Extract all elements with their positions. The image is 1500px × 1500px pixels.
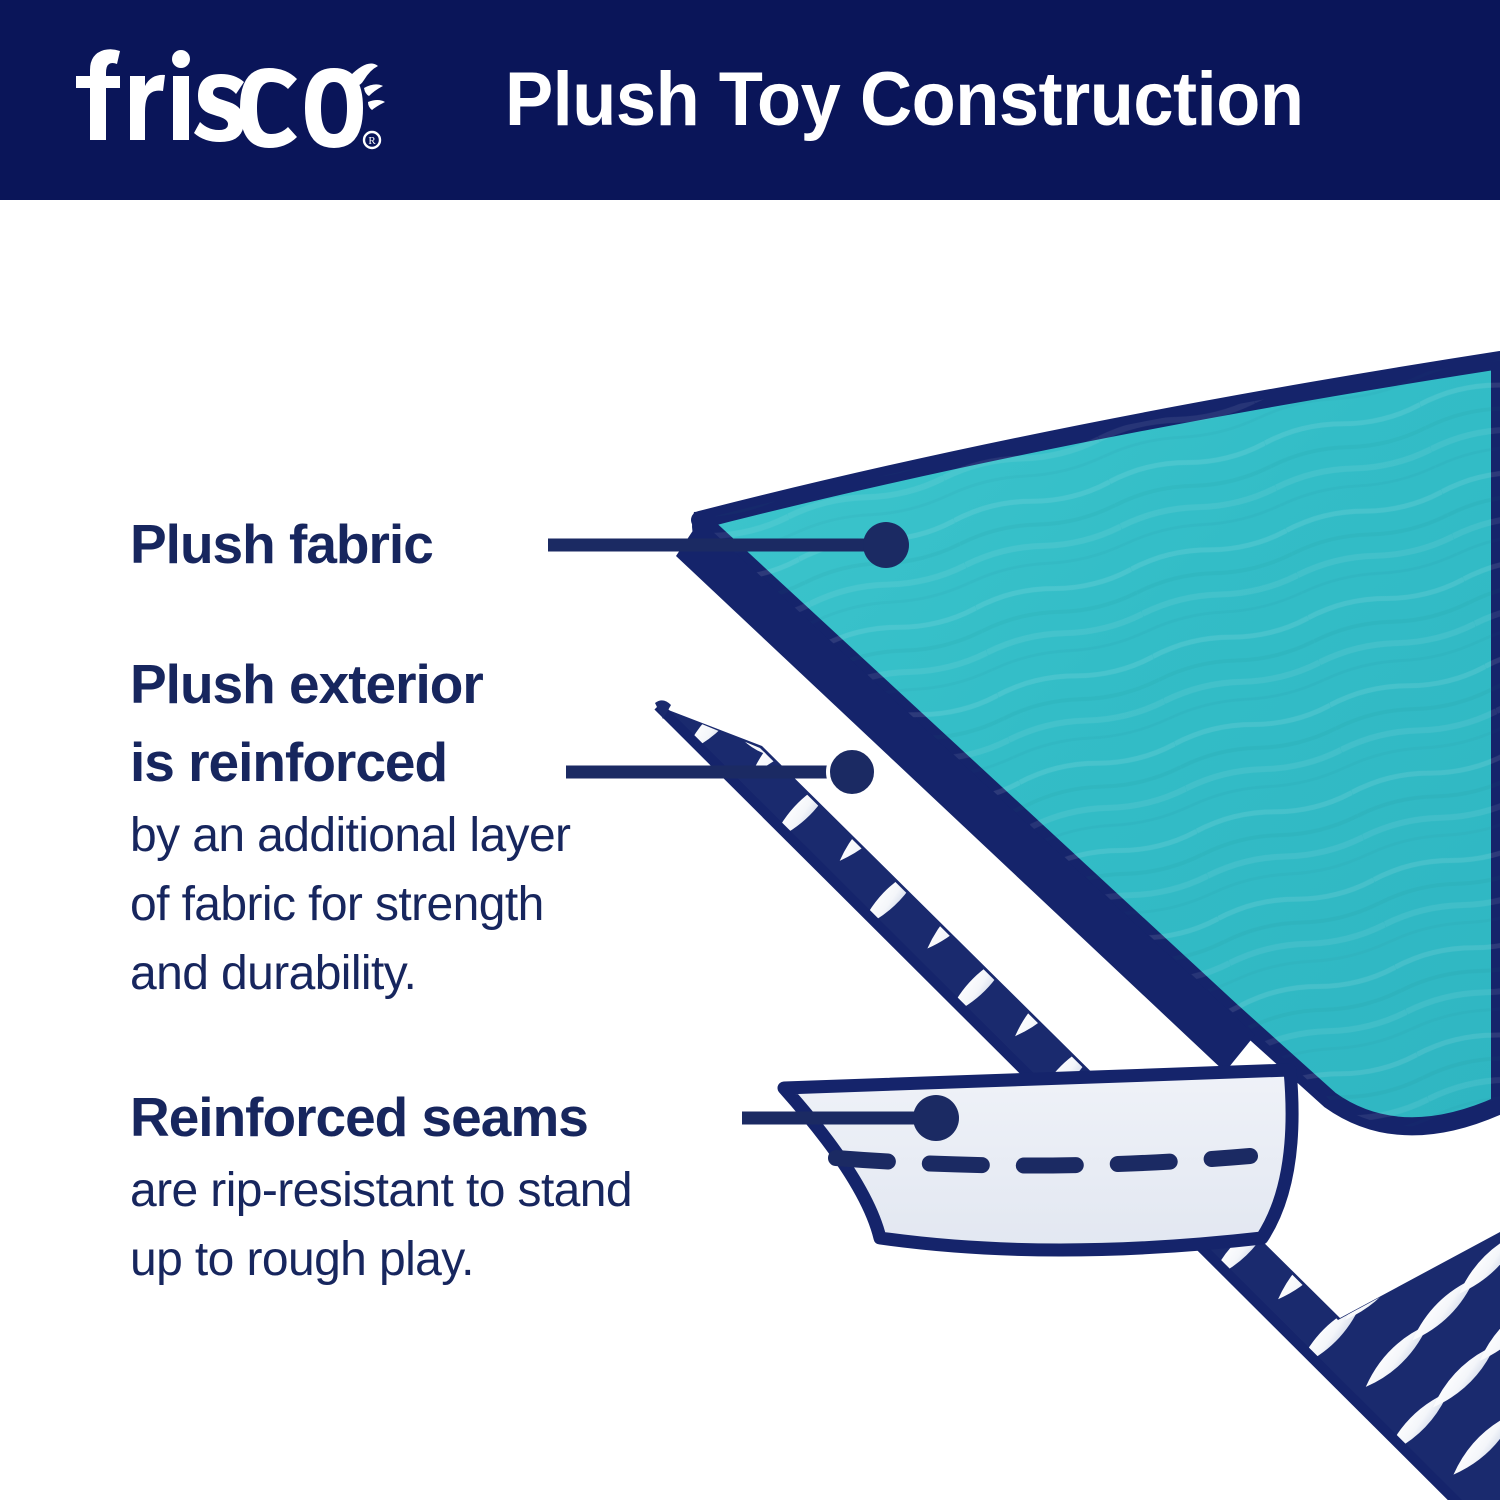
- mesh-opening: [1119, 332, 1193, 406]
- mesh-opening: [1423, 729, 1497, 803]
- mesh-opening: [793, 658, 867, 732]
- mesh-opening: [948, 766, 1022, 840]
- mesh-opening: [1088, 626, 1162, 700]
- mesh-opening: [1181, 533, 1255, 607]
- leader-dot-plush-exterior: [828, 748, 876, 796]
- header-bar: R Plush Toy Construction: [0, 0, 1500, 200]
- mesh-opening: [901, 813, 975, 887]
- mesh-opening: [1149, 828, 1223, 902]
- mesh-opening: [942, 947, 1016, 1021]
- mesh-opening: [1345, 1070, 1419, 1144]
- mesh-opening: [1000, 539, 1074, 613]
- mesh-opening: [1129, 761, 1203, 835]
- mesh-opening: [767, 772, 841, 846]
- mesh-opening: [1392, 1024, 1466, 1098]
- plush-fabric-fold-edge: [676, 512, 1255, 1072]
- mesh-opening: [989, 901, 1063, 975]
- mesh-opening: [959, 404, 1033, 478]
- mesh-opening: [912, 451, 986, 525]
- mesh-opening: [1485, 930, 1500, 1004]
- svg-text:R: R: [368, 135, 376, 147]
- mesh-opening: [1006, 358, 1080, 432]
- mesh-opening: [1160, 466, 1234, 540]
- mesh-opening: [1216, 848, 1290, 922]
- infographic-page: R Plush Toy Construction: [0, 0, 1500, 1500]
- mesh-opening: [1447, 1406, 1500, 1480]
- mesh-opening: [813, 725, 887, 799]
- mesh-opening: [1324, 1003, 1398, 1077]
- mesh-opening: [1433, 1158, 1500, 1232]
- mesh-opening: [1468, 1474, 1500, 1500]
- mesh-opening: [1242, 735, 1316, 809]
- mesh-opening: [772, 591, 846, 665]
- mesh-opening: [1365, 1138, 1439, 1212]
- mesh-opening: [860, 679, 934, 753]
- mesh-opening: [1093, 445, 1167, 519]
- mesh-opening: [1047, 492, 1121, 566]
- mesh-opening: [1310, 755, 1384, 829]
- mesh-opening: [979, 472, 1053, 546]
- mesh-opening: [1304, 936, 1378, 1010]
- mesh-opening: [1377, 776, 1451, 850]
- mesh-opening: [1403, 662, 1477, 736]
- label-reinforced-seams: Reinforced seams are rip-resistant to st…: [130, 1078, 632, 1294]
- mesh-opening: [1269, 621, 1343, 695]
- mesh-opening: [1082, 807, 1156, 881]
- mesh-opening: [1470, 682, 1500, 756]
- mesh-opening: [1464, 863, 1500, 937]
- mesh-opening: [1184, 1143, 1258, 1217]
- mesh-opening: [1494, 1360, 1500, 1434]
- mesh-opening: [1196, 781, 1270, 855]
- mesh-opening: [907, 632, 981, 706]
- mesh-opening: [1382, 595, 1456, 669]
- mesh-opening: [1140, 399, 1214, 473]
- mesh-opening: [1418, 910, 1492, 984]
- mesh-opening: [1190, 962, 1264, 1036]
- mesh-opening: [726, 638, 800, 712]
- mesh-opening: [1052, 311, 1126, 385]
- mesh-opening: [1427, 1339, 1500, 1413]
- mesh-opening: [1336, 641, 1410, 715]
- mesh-opening: [1293, 1298, 1367, 1372]
- label-reinforced-seams-heading: Reinforced seams: [130, 1078, 632, 1156]
- label-plush-exterior-body: by an additional layer of fabric for str…: [130, 801, 570, 1008]
- mesh-opening: [1035, 854, 1109, 928]
- label-plush-fabric: Plush fabric: [130, 505, 433, 583]
- mesh-opening: [1252, 1164, 1326, 1238]
- mesh-opening: [1356, 708, 1430, 782]
- mesh-opening: [1207, 419, 1281, 493]
- leader-dot-reinforced-seams: [913, 1095, 959, 1141]
- mesh-opening: [1380, 1386, 1454, 1460]
- mesh-opening: [1444, 796, 1500, 870]
- mesh-opening: [1108, 694, 1182, 768]
- mesh-opening: [974, 653, 1048, 727]
- mesh-opening: [1073, 378, 1147, 452]
- mesh-opening: [1114, 513, 1188, 587]
- mesh-opening: [1026, 425, 1100, 499]
- mesh-opening: [746, 705, 820, 779]
- mesh-opening: [679, 684, 753, 758]
- mesh-opening: [1283, 869, 1357, 943]
- mesh-opening: [1272, 1231, 1346, 1305]
- seam-flap-layer: [784, 1070, 1292, 1250]
- leader-lines: [548, 522, 959, 1141]
- mesh-opening: [933, 518, 1007, 592]
- mesh-opening: [1491, 749, 1500, 823]
- mesh-opening: [1102, 875, 1176, 949]
- label-plush-fabric-heading: Plush fabric: [130, 505, 433, 583]
- plush-fabric-layer: [700, 360, 1500, 1126]
- mesh-opening: [1009, 968, 1083, 1042]
- mesh-opening: [1061, 740, 1135, 814]
- label-plush-exterior-heading: Plush exterior is reinforced: [130, 645, 570, 801]
- mesh-opening: [1030, 1035, 1104, 1109]
- mesh-opening: [1201, 600, 1275, 674]
- mesh-opening: [1123, 942, 1197, 1016]
- page-title: Plush Toy Construction: [505, 50, 1303, 150]
- mesh-opening: [1319, 1184, 1393, 1258]
- mesh-opening: [1330, 822, 1404, 896]
- leader-dot-plush-fabric: [863, 522, 909, 568]
- mesh-opening: [1263, 802, 1337, 876]
- mesh-opening: [1315, 574, 1389, 648]
- mesh-opening: [1175, 714, 1249, 788]
- mesh-opening: [1298, 1117, 1372, 1191]
- mesh-opening: [1351, 889, 1425, 963]
- stitch-dashed-line: [836, 1156, 1250, 1166]
- mesh-opening: [1438, 977, 1500, 1051]
- mesh-opening: [1097, 1056, 1171, 1130]
- frisco-logo: R: [72, 44, 392, 152]
- mesh-opening: [1295, 507, 1369, 581]
- mesh-opening: [1278, 1050, 1352, 1124]
- mesh-opening: [1076, 988, 1150, 1062]
- mesh-opening: [968, 834, 1042, 908]
- mesh-opening: [1479, 1111, 1500, 1185]
- mesh-opening: [1237, 916, 1311, 990]
- mesh-opening: [866, 498, 940, 572]
- mesh-openings: [742, 738, 798, 757]
- mesh-opening: [921, 880, 995, 954]
- registered-trademark-icon: R: [364, 132, 380, 148]
- mesh-opening: [819, 544, 893, 618]
- mesh-opening: [1143, 1009, 1217, 1083]
- mesh-opening: [1211, 1029, 1285, 1103]
- mesh-opening: [834, 793, 908, 867]
- mesh-opening: [953, 585, 1027, 659]
- mesh-opening: [1056, 921, 1130, 995]
- mesh-opening: [1474, 1293, 1500, 1367]
- mesh-opening: [994, 720, 1068, 794]
- mesh-opening: [1339, 1252, 1413, 1326]
- label-reinforced-seams-body: are rip-resistant to stand up to rough p…: [130, 1156, 632, 1294]
- mesh-opening: [1205, 1210, 1279, 1284]
- mesh-opening: [839, 612, 913, 686]
- mesh-opening: [1134, 580, 1208, 654]
- mesh-opening: [1155, 647, 1229, 721]
- reinforcement-mesh-layer: [655, 311, 1500, 1500]
- mesh-opening: [1386, 1205, 1460, 1279]
- mesh-opening: [1231, 1097, 1305, 1171]
- mesh-opening: [1248, 554, 1322, 628]
- mesh-opening: [1371, 957, 1445, 1031]
- label-plush-exterior: Plush exterior is reinforced by an addit…: [130, 645, 570, 1008]
- mesh-opening: [1222, 667, 1296, 741]
- mesh-opening: [927, 699, 1001, 773]
- mesh-opening: [1257, 983, 1331, 1057]
- mesh-opening: [1067, 559, 1141, 633]
- mesh-opening: [1020, 606, 1094, 680]
- mesh-opening: [1459, 1044, 1500, 1118]
- mesh-opening: [1360, 1319, 1434, 1393]
- mesh-opening: [1289, 688, 1363, 762]
- mesh-opening: [1228, 486, 1302, 560]
- mesh-opening: [1170, 895, 1244, 969]
- mesh-opening: [1406, 1272, 1480, 1346]
- mesh-opening: [1453, 1225, 1500, 1299]
- mesh-opening: [1164, 1076, 1238, 1150]
- mesh-opening: [880, 746, 954, 820]
- mesh-opening: [854, 860, 928, 934]
- mesh-opening: [1117, 1123, 1191, 1197]
- mesh-opening: [886, 565, 960, 639]
- mesh-opening: [1041, 673, 1115, 747]
- mesh-opening: [1412, 1091, 1486, 1165]
- mesh-opening: [1015, 787, 1089, 861]
- mesh-lattice: [679, 311, 1500, 1500]
- mesh-opening: [1397, 843, 1471, 917]
